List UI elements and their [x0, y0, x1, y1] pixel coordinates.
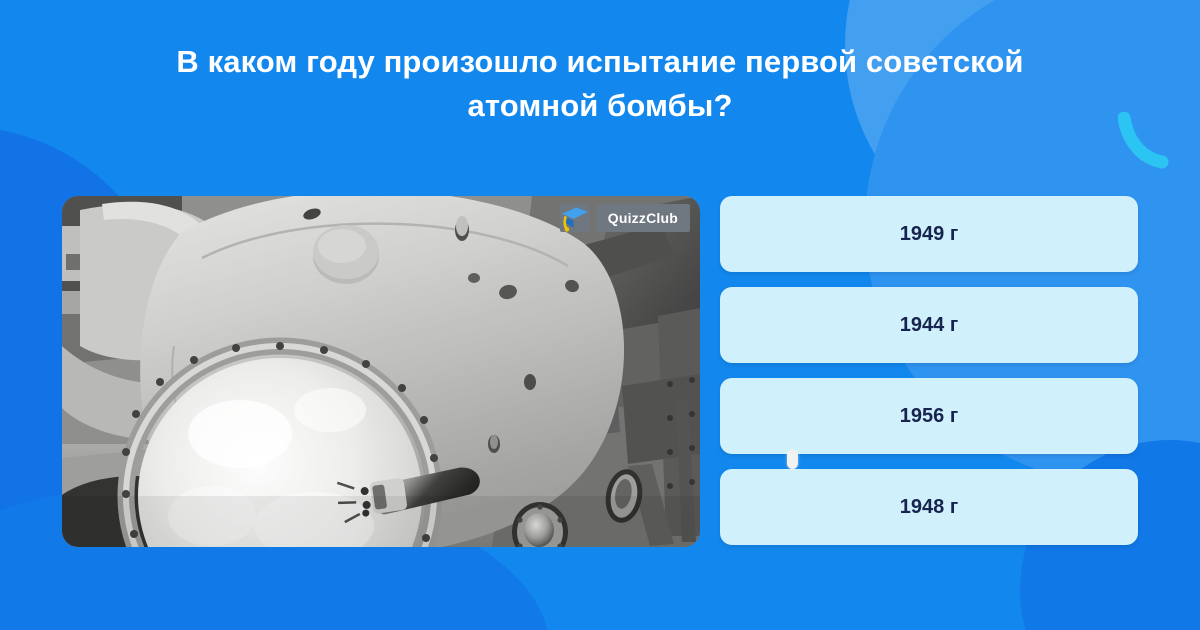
- question-image: №72-57 QuizzClub: [62, 196, 700, 547]
- question-title: В каком году произошло испытание первой …: [0, 40, 1200, 128]
- answer-options-list: 1949 г 1944 г 1956 г 1948 г: [720, 196, 1138, 545]
- answer-option-3-label: 1956 г: [900, 405, 958, 428]
- graduation-cap-icon: [560, 204, 590, 232]
- cursor-handle[interactable]: [787, 450, 798, 469]
- answer-option-2-label: 1944 г: [900, 314, 958, 337]
- watermark-brand: QuizzClub: [596, 204, 690, 232]
- answer-option-2[interactable]: 1944 г: [720, 287, 1138, 363]
- watermark-badge: QuizzClub: [560, 204, 690, 232]
- answer-option-1-label: 1949 г: [900, 223, 958, 246]
- answer-option-1[interactable]: 1949 г: [720, 196, 1138, 272]
- question-card: В каком году произошло испытание первой …: [0, 0, 1200, 630]
- answer-option-4[interactable]: 1948 г: [720, 469, 1138, 545]
- answer-option-4-label: 1948 г: [900, 496, 958, 519]
- question-text: В каком году произошло испытание первой …: [176, 44, 1023, 123]
- bomb-photograph: №72-57: [62, 196, 700, 547]
- answer-option-3[interactable]: 1956 г: [720, 378, 1138, 454]
